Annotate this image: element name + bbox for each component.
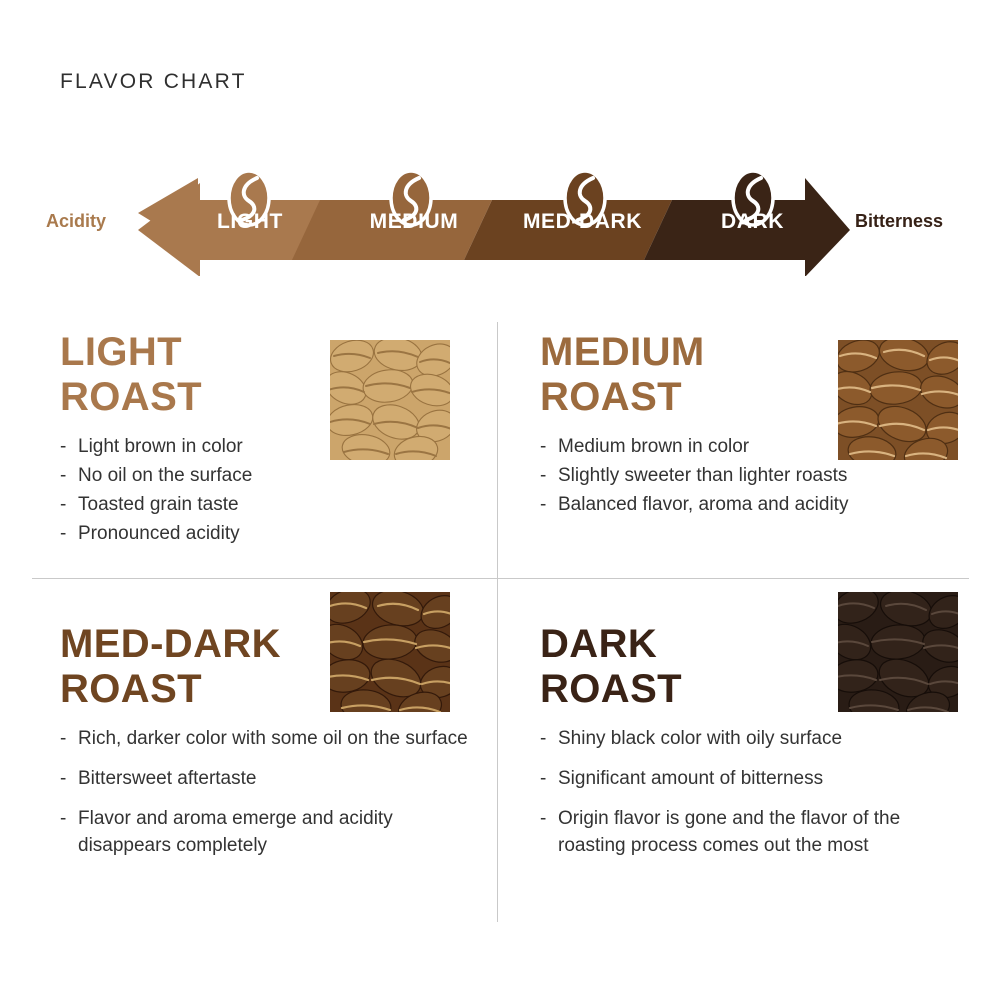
bullet-dash: - (540, 806, 546, 833)
scale-label-dark: DARK (690, 210, 815, 234)
dark-roast-beans-photo (838, 592, 958, 712)
list-item: -Pronounced acidity (60, 521, 490, 548)
list-item: -Origin flavor is gone and the flavor of… (540, 806, 970, 860)
axis-label-bitterness: Bitterness (855, 211, 943, 232)
bullet-dash: - (540, 766, 546, 793)
page-title: FLAVOR CHART (60, 70, 247, 94)
vertical-divider (497, 322, 498, 922)
scale-label-light: LIGHT (195, 210, 305, 234)
list-item-text: Slightly sweeter than lighter roasts (558, 465, 847, 486)
list-item: -Flavor and aroma emerge and acidity dis… (60, 806, 490, 860)
bullet-dash: - (60, 492, 66, 519)
bullet-list-med-dark-roast: -Rich, darker color with some oil on the… (60, 726, 490, 860)
list-item-text: Rich, darker color with some oil on the … (78, 728, 468, 749)
list-item: -Rich, darker color with some oil on the… (60, 726, 490, 753)
list-item-text: Bittersweet aftertaste (78, 768, 256, 789)
bullet-dash: - (60, 726, 66, 753)
list-item-text: Origin flavor is gone and the flavor of … (558, 808, 900, 856)
list-item: -Significant amount of bitterness (540, 766, 970, 793)
list-item-text: Pronounced acidity (78, 523, 240, 544)
list-item-text: Toasted grain taste (78, 494, 239, 515)
bullet-dash: - (60, 521, 66, 548)
list-item-text: Medium brown in color (558, 436, 749, 457)
list-item-text: Balanced flavor, aroma and acidity (558, 494, 848, 515)
bullet-list-dark-roast: -Shiny black color with oily surface -Si… (540, 726, 970, 860)
list-item: -No oil on the surface (60, 463, 490, 490)
list-item-text: Significant amount of bitterness (558, 768, 823, 789)
list-item: -Balanced flavor, aroma and acidity (540, 492, 970, 519)
list-item: -Bittersweet aftertaste (60, 766, 490, 793)
light-roast-beans-photo (330, 340, 450, 460)
bullet-dash: - (540, 463, 546, 490)
med-dark-roast-beans-photo (330, 592, 450, 712)
list-item-text: Flavor and aroma emerge and acidity disa… (78, 808, 393, 856)
bullet-dash: - (60, 463, 66, 490)
bullet-dash: - (60, 806, 66, 833)
bullet-dash: - (60, 434, 66, 461)
list-item-text: No oil on the surface (78, 465, 252, 486)
list-item-text: Light brown in color (78, 436, 243, 457)
bullet-dash: - (540, 492, 546, 519)
bullet-dash: - (540, 434, 546, 461)
axis-label-acidity: Acidity (46, 211, 106, 232)
list-item-text: Shiny black color with oily surface (558, 728, 842, 749)
list-item: -Toasted grain taste (60, 492, 490, 519)
list-item: -Shiny black color with oily surface (540, 726, 970, 753)
medium-roast-beans-photo (838, 340, 958, 460)
bullet-dash: - (60, 766, 66, 793)
horizontal-divider (32, 578, 969, 579)
bullet-dash: - (540, 726, 546, 753)
scale-label-medium: MEDIUM (348, 210, 480, 234)
scale-label-med-dark: MED-DARK (500, 210, 665, 234)
list-item: -Slightly sweeter than lighter roasts (540, 463, 970, 490)
